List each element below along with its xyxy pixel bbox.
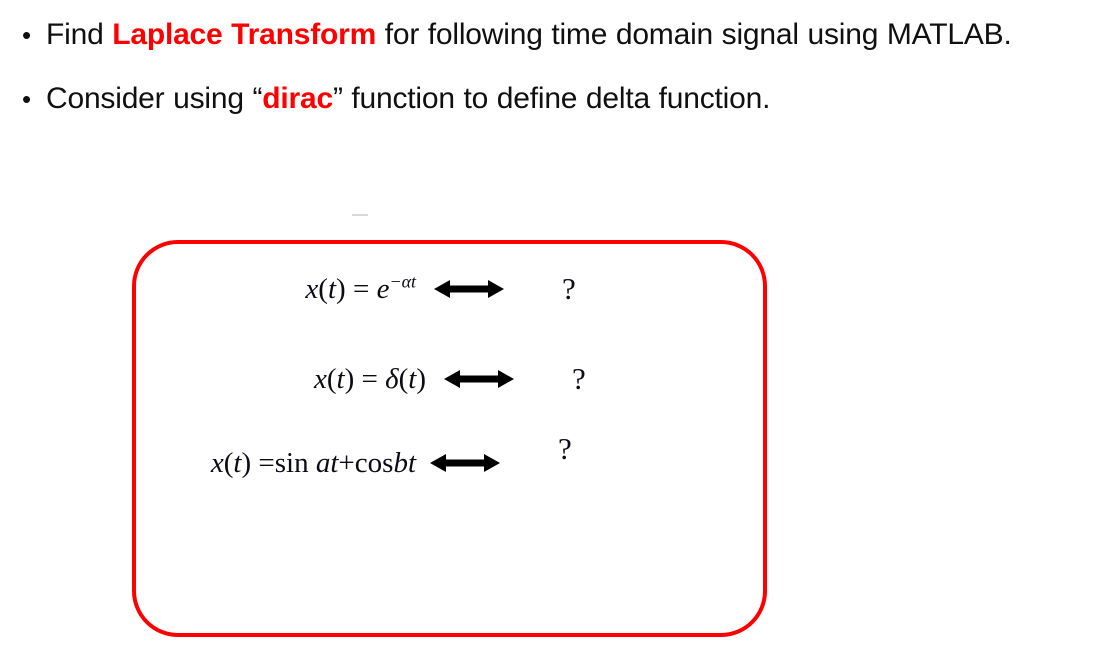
equation-row-sin-cos: x(t) =sin at+cosbt ?	[132, 436, 767, 490]
eq3-equals: =	[258, 447, 274, 479]
eq3-var: x	[211, 447, 224, 479]
bullet-text-segment-1: Consider using “	[46, 82, 262, 115]
bullet-item-dirac: •Consider using “dirac” function to defi…	[0, 78, 1090, 120]
bullet-text-highlight-dirac: dirac	[262, 82, 333, 115]
bullet-list: •Find Laplace Transform for following ti…	[0, 0, 1090, 120]
bullet-text-highlight-laplace-transform: Laplace Transform	[112, 18, 376, 51]
eq3-sin-arg: at	[316, 447, 339, 479]
eq3-cos-arg: bt	[393, 447, 416, 479]
eq3-sin: sin	[275, 447, 309, 479]
eq3-paren-close: )	[241, 447, 251, 479]
eq1-paren-open: (	[318, 273, 328, 305]
double-headed-arrow-icon	[430, 278, 508, 300]
eq2-arg: t	[337, 363, 345, 395]
eq2-paren-open: (	[327, 363, 337, 395]
double-headed-arrow-icon	[440, 368, 518, 390]
equation-row-delta: x(t) = δ(t) ?	[132, 352, 767, 406]
eq2-equals: =	[362, 363, 378, 395]
equation-rhs-sin-cos: ?	[504, 431, 572, 467]
equation-lhs-delta: x(t) = δ(t)	[132, 363, 440, 396]
eq2-delta-paren-close: )	[416, 363, 426, 395]
bullet-marker-icon: •	[22, 14, 31, 56]
eq1-equals: =	[353, 273, 369, 305]
eq1-var: x	[305, 273, 318, 305]
eq1-base: e	[377, 273, 390, 305]
eq1-exponent: −αt	[389, 271, 416, 291]
eq2-var: x	[314, 363, 327, 395]
eq2-paren-close: )	[345, 363, 355, 395]
eq2-delta-paren-open: (	[399, 363, 409, 395]
eq3-paren-open: (	[224, 447, 234, 479]
eq3-cos: cos	[355, 447, 394, 479]
eq1-arg: t	[328, 273, 336, 305]
bullet-marker-icon: •	[22, 78, 31, 120]
eq1-paren-close: )	[336, 273, 346, 305]
bullet-text-segment-1: Find	[46, 18, 112, 51]
equation-rhs-exponential: ?	[508, 271, 576, 307]
equation-rhs-delta: ?	[518, 361, 586, 397]
eq2-delta-symbol: δ	[385, 363, 398, 395]
equation-lhs-exponential: x(t) = e−αt	[132, 273, 430, 306]
equation-row-exponential: x(t) = e−αt ?	[132, 262, 767, 316]
eq3-plus: +	[338, 447, 354, 479]
bullet-text-segment-2: ” function to define delta function.	[333, 82, 770, 115]
faint-artifact-mark	[352, 214, 368, 216]
bullet-text-segment-2: for following time domain signal using M…	[376, 18, 1012, 51]
equation-list: x(t) = e−αt ? x(t) = δ(t) ? x(t) =sin at…	[132, 240, 767, 637]
equation-lhs-sin-cos: x(t) =sin at+cosbt	[132, 447, 430, 480]
double-headed-arrow-icon	[426, 452, 504, 474]
bullet-item-laplace: •Find Laplace Transform for following ti…	[0, 14, 1090, 56]
